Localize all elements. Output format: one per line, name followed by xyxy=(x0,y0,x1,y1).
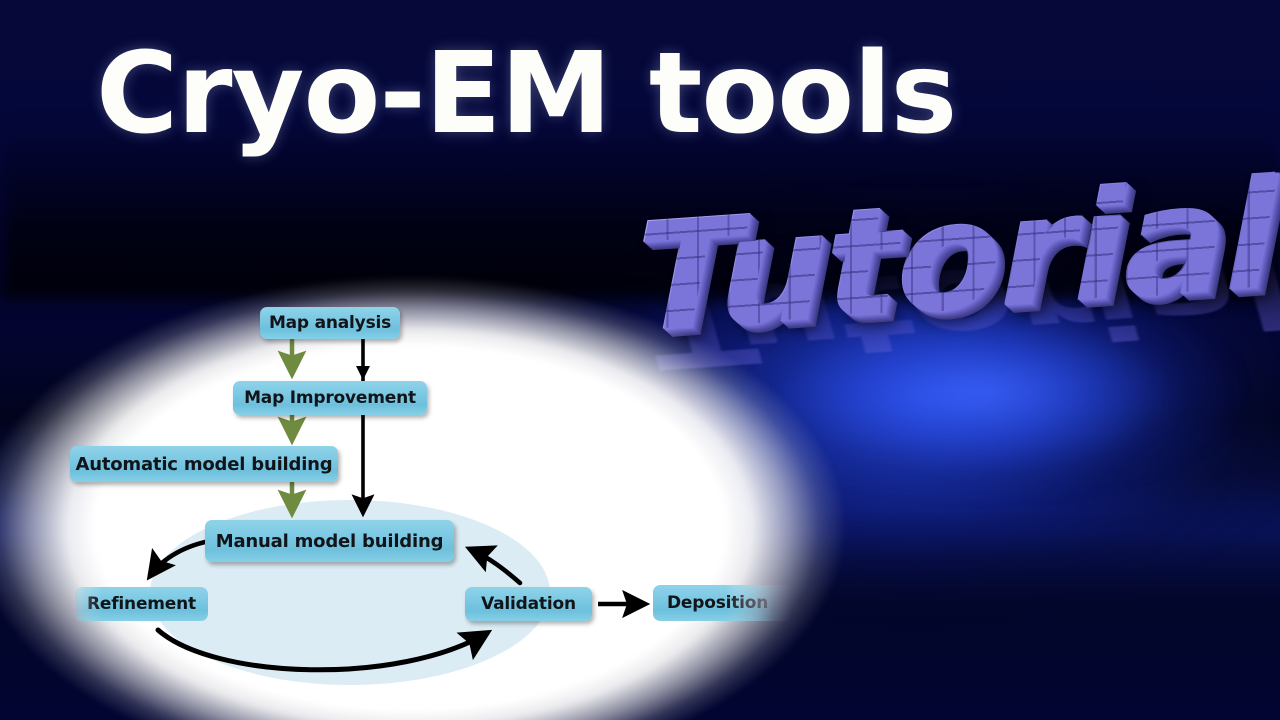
node-label: Validation xyxy=(481,594,576,614)
node-map-analysis[interactable]: Map analysis xyxy=(260,307,400,339)
node-label: Automatic model building xyxy=(76,454,333,475)
node-map-improvement[interactable]: Map Improvement xyxy=(233,381,427,415)
edge-refinement-to-validation xyxy=(158,630,487,670)
node-refinement[interactable]: Refinement xyxy=(75,587,208,621)
node-label: Refinement xyxy=(87,594,196,614)
node-label: Manual model building xyxy=(216,531,444,552)
slide-canvas: Tutorial Tutorial Tutorial Cryo-EM tools xyxy=(0,0,1280,720)
edge-midpoint-arrowhead-icon xyxy=(356,366,370,380)
edge-validation-to-manual-build xyxy=(470,549,520,583)
node-deposition[interactable]: Deposition xyxy=(653,585,793,621)
node-automatic-model-building[interactable]: Automatic model building xyxy=(70,446,338,482)
node-label: Map analysis xyxy=(269,313,391,333)
node-validation[interactable]: Validation xyxy=(465,587,592,621)
node-label: Map Improvement xyxy=(244,388,416,408)
node-label: Deposition xyxy=(667,593,768,613)
cryoem-workflow-diagram: Map analysis Map Improvement Automatic m… xyxy=(0,0,1280,720)
node-manual-model-building[interactable]: Manual model building xyxy=(205,520,454,562)
